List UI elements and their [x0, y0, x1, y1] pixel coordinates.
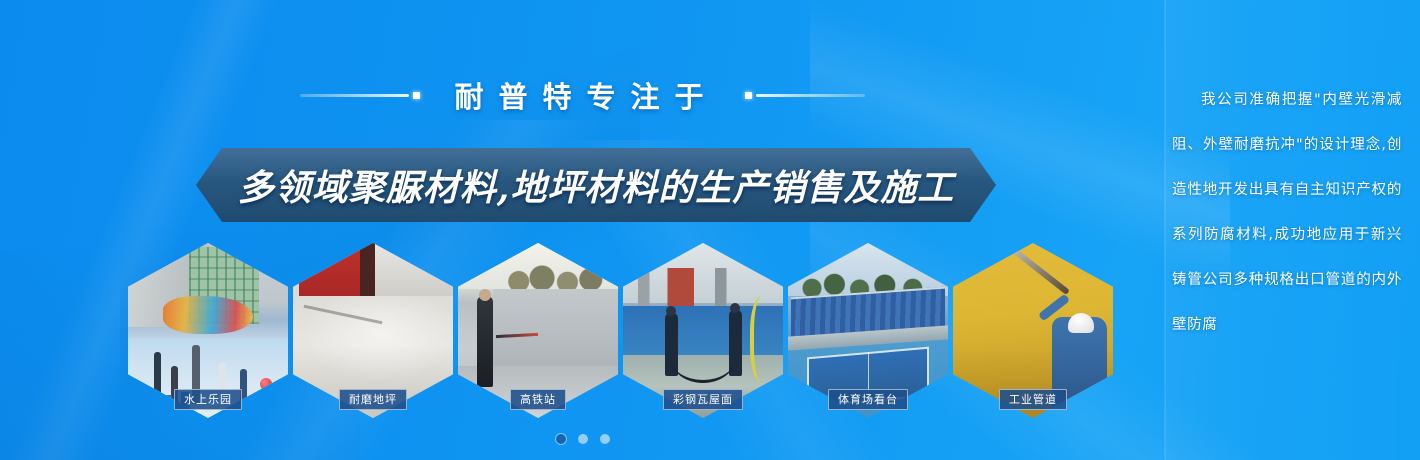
project-tile[interactable]: 工业管道 [953, 243, 1113, 418]
rule-dot-icon [745, 92, 752, 99]
main-title-text: 多领域聚脲材料,地坪材料的生产销售及施工 [196, 148, 996, 222]
tile-label: 水上乐园 [174, 389, 242, 410]
side-description: 我公司准确把握"内壁光滑减阻、外壁耐磨抗冲"的设计理念,创造性地开发出具有自主知… [1172, 78, 1402, 348]
rule-bar [756, 94, 865, 97]
project-tile[interactable]: 耐磨地坪 [293, 243, 453, 418]
tile-label: 体育场看台 [828, 389, 908, 410]
main-title: 多领域聚脲材料,地坪材料的生产销售及施工 [196, 148, 996, 222]
promo-banner: 耐普特专注于 多领域聚脲材料,地坪材料的生产销售及施工 水上乐园 [0, 0, 1420, 460]
carousel-dots [0, 434, 1165, 444]
headline-rule-right [745, 92, 865, 99]
tile-label: 耐磨地坪 [339, 389, 407, 410]
headline-rule-left [300, 92, 420, 99]
carousel-dot-1[interactable] [556, 434, 566, 444]
project-tile[interactable]: 彩钢瓦屋面 [623, 243, 783, 418]
side-description-text: 我公司准确把握"内壁光滑减阻、外壁耐磨抗冲"的设计理念,创造性地开发出具有自主知… [1172, 78, 1402, 348]
project-tile[interactable]: 体育场看台 [788, 243, 948, 418]
tile-label: 工业管道 [999, 389, 1067, 410]
tile-label: 高铁站 [510, 389, 566, 410]
right-panel-divider [1164, 0, 1166, 460]
tile-label: 彩钢瓦屋面 [663, 389, 743, 410]
rule-dot-icon [413, 92, 420, 99]
carousel-dot-2[interactable] [578, 434, 588, 444]
headline-row: 耐普特专注于 [0, 74, 1165, 116]
project-tile[interactable]: 高铁站 [458, 243, 618, 418]
project-tile[interactable]: 水上乐园 [128, 243, 288, 418]
project-tile-strip: 水上乐园 耐磨地坪 高铁站 [128, 243, 1128, 418]
carousel-dot-3[interactable] [600, 434, 610, 444]
rule-bar [300, 94, 409, 97]
headline-text: 耐普特专注于 [420, 74, 744, 116]
